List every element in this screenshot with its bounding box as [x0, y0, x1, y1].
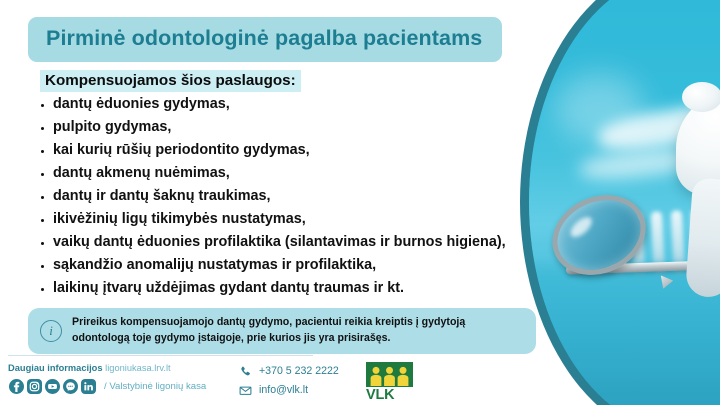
- page-title: Pirminė odontologinė pagalba pacientams: [28, 17, 502, 62]
- list-item: vaikų dantų ėduonies profilaktika (silan…: [40, 235, 540, 251]
- footer-divider: [8, 355, 313, 356]
- social-handle: / Valstybinė ligonių kasa: [104, 381, 206, 392]
- info-note: i Prireikus kompensuojamojo dantų gydymo…: [28, 308, 536, 354]
- phone-row: +370 5 232 2222: [238, 364, 339, 378]
- list-item: ikivėžinių ligų tikimybės nustatymas,: [40, 212, 540, 228]
- list-item: dantų ir dantų šaknų traukimas,: [40, 189, 540, 205]
- vlk-logo-text: VLK: [366, 388, 413, 403]
- more-info-label: Daugiau informacijos: [8, 363, 103, 373]
- services-heading: Kompensuojamos šios paslaugos:: [40, 70, 301, 92]
- list-item: dantų ėduonies gydymas,: [40, 97, 540, 113]
- email-address[interactable]: info@vlk.lt: [259, 384, 308, 396]
- poster: Pirminė odontologinė pagalba pacientams …: [0, 0, 720, 405]
- list-item: pulpito gydymas,: [40, 120, 540, 136]
- list-item: laikinų įtvarų uždėjimas gydant dantų tr…: [40, 281, 540, 297]
- vlk-logo: VLK: [366, 362, 413, 403]
- photo-background: [529, 0, 720, 405]
- instagram-icon[interactable]: [27, 379, 42, 394]
- services-list: dantų ėduonies gydymas, pulpito gydymas,…: [40, 97, 540, 303]
- mirror-glint: [567, 214, 595, 241]
- email-icon: [238, 383, 252, 397]
- list-item: sąkandžio anomalijų nustatymas ir profil…: [40, 258, 540, 274]
- tooth-model: [676, 91, 720, 301]
- list-item: dantų akmenų nuėmimas,: [40, 166, 540, 182]
- more-info: Daugiau informacijos ligoniukasa.lrv.lt: [8, 363, 171, 373]
- more-info-url[interactable]: ligoniukasa.lrv.lt: [105, 363, 170, 373]
- tooth-root-left: [685, 178, 720, 299]
- info-note-text: Prireikus kompensuojamojo dantų gydymo, …: [72, 315, 524, 346]
- email-row: info@vlk.lt: [238, 383, 339, 397]
- messenger-icon[interactable]: [63, 379, 78, 394]
- facebook-icon[interactable]: [9, 379, 24, 394]
- list-item: kai kurių rūšių periodontito gydymas,: [40, 143, 540, 159]
- contact-info: +370 5 232 2222 info@vlk.lt: [238, 364, 339, 402]
- phone-icon: [238, 364, 252, 378]
- vlk-logo-mark: [366, 362, 413, 387]
- linkedin-icon[interactable]: [81, 379, 96, 394]
- info-icon: i: [40, 320, 62, 342]
- dental-photo: [520, 0, 720, 405]
- social-links: / Valstybinė ligonių kasa: [9, 379, 206, 394]
- youtube-icon[interactable]: [45, 379, 60, 394]
- phone-number[interactable]: +370 5 232 2222: [259, 365, 339, 377]
